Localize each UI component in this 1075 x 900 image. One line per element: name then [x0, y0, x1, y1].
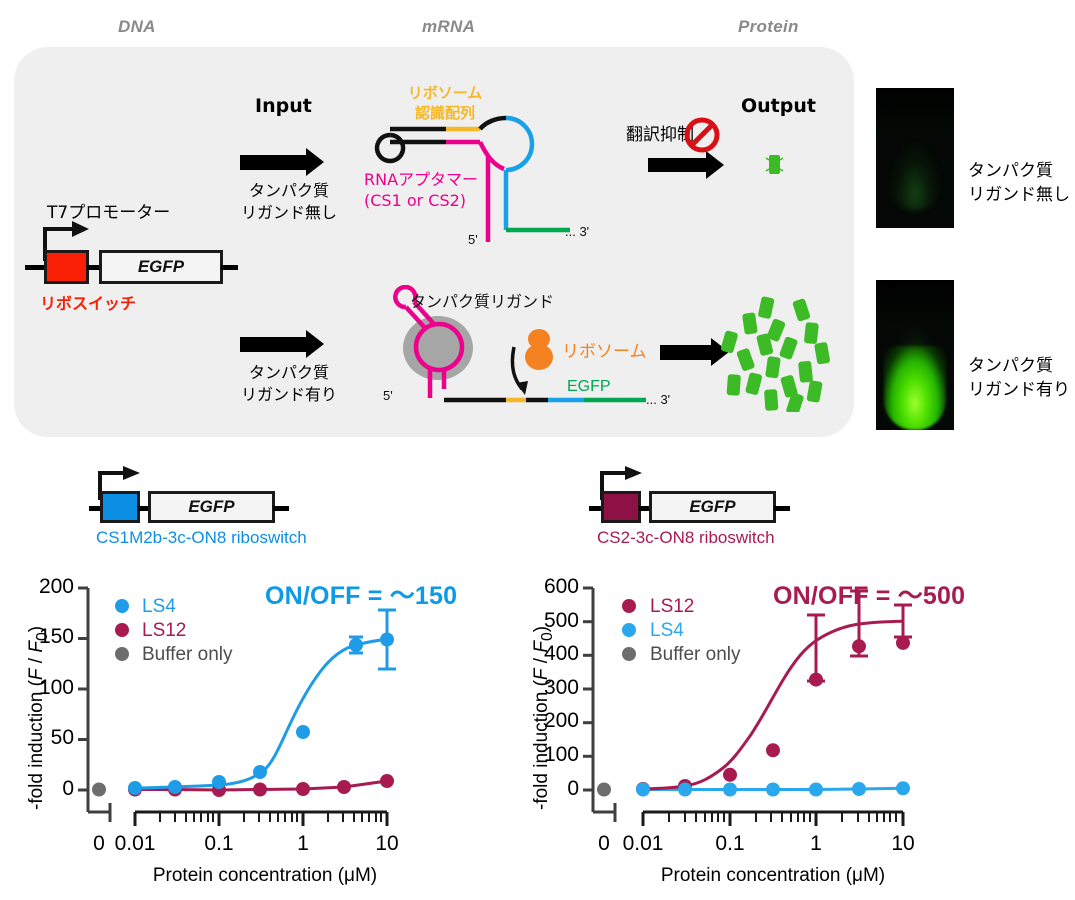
- chart-left: -fold induction (F / F0) ON/OFF = 〜150: [0, 560, 525, 890]
- left-riboswitch-box: [100, 491, 140, 523]
- right-egfp-label: EGFP: [689, 497, 735, 517]
- gfp-protein-cluster-icon: [714, 292, 834, 412]
- right-xtick-0.01: 0.01: [611, 832, 675, 856]
- right-ytick-400: 400: [521, 642, 579, 666]
- right-egfp-box: EGFP: [649, 491, 776, 523]
- right-ytick-0: 0: [521, 777, 579, 801]
- egfp-gene-label: EGFP: [138, 257, 184, 277]
- left-egfp-label: EGFP: [188, 497, 234, 517]
- input-label: Input: [255, 95, 312, 117]
- mrna-off-3prime-label: ... 3': [565, 224, 589, 239]
- right-ytick-300: 300: [521, 676, 579, 700]
- left-construct-backbone-r: [273, 506, 289, 511]
- off-condition-line1: タンパク質: [236, 180, 342, 202]
- left-x-axis-title: Protein concentration (μM): [100, 865, 430, 887]
- tube-photo-off: [876, 88, 954, 228]
- dna-backbone-right: [221, 265, 238, 270]
- tube-on-dark-cap: [876, 280, 954, 331]
- tube-off-caption-line2: リガンド無し: [968, 184, 1070, 208]
- mrna-off-5prime-label: 5': [468, 232, 478, 247]
- left-ytick-150: 150: [26, 625, 74, 649]
- on-input-arrow-icon: [240, 330, 335, 358]
- off-input-arrow-icon: [240, 148, 335, 176]
- tube-on-caption-line2: リガンド有り: [968, 379, 1070, 403]
- mrna-on-5prime-label: 5': [383, 388, 393, 403]
- left-egfp-box: EGFP: [148, 491, 275, 523]
- left-xtick-0.1: 0.1: [192, 832, 246, 856]
- column-label-dna: DNA: [118, 17, 156, 37]
- right-xtick-0.1: 0.1: [703, 832, 757, 856]
- riboswitch-box: [44, 250, 89, 284]
- left-legend-item-ls4: LS4: [142, 596, 176, 618]
- left-xtick-1: 1: [283, 832, 323, 856]
- off-condition-label: タンパク質 リガンド無し: [236, 180, 342, 223]
- right-ytick-500: 500: [521, 609, 579, 633]
- left-ytick-100: 100: [26, 676, 74, 700]
- right-x-axis-title: Protein concentration (μM): [608, 865, 938, 887]
- tube-off-caption: タンパク質 リガンド無し: [968, 160, 1070, 208]
- riboswitch-label: リボスイッチ: [40, 290, 136, 314]
- on-condition-label: タンパク質 リガンド有り: [236, 362, 342, 405]
- right-ytick-200: 200: [521, 709, 579, 733]
- rna-aptamer-line1: RNAアプタマー: [364, 170, 478, 191]
- left-ytick-0: 0: [26, 777, 74, 801]
- right-riboswitch-box: [601, 491, 641, 523]
- right-xtick-10: 10: [879, 832, 927, 856]
- right-xtick-1: 1: [796, 832, 836, 856]
- left-legend-item-ls12: LS12: [142, 620, 186, 642]
- rbs-label-line1: リボソーム: [380, 84, 510, 104]
- prohibition-icon: [684, 117, 720, 153]
- mrna-on-egfp-label: EGFP: [567, 378, 611, 396]
- on-condition-line2: リガンド有り: [236, 384, 342, 406]
- mrna-on-3prime-label: ... 3': [646, 392, 670, 407]
- left-legend-item-buffer: Buffer only: [142, 644, 232, 666]
- right-construct-backbone-r: [774, 506, 790, 511]
- gfp-protein-single-icon: [764, 152, 786, 178]
- egfp-gene-box: EGFP: [99, 250, 223, 284]
- tube-on-caption: タンパク質 リガンド有り: [968, 355, 1070, 403]
- left-xtick-0.01: 0.01: [103, 832, 167, 856]
- tube-off-dark-cap: [876, 88, 954, 136]
- right-ytick-100: 100: [521, 743, 579, 767]
- ribosome-icon: [521, 327, 557, 371]
- off-condition-line2: リガンド無し: [236, 202, 342, 224]
- off-output-arrow-icon: [648, 152, 743, 178]
- t7-promoter-label: T7プロモーター: [47, 198, 170, 223]
- tube-off-caption-line1: タンパク質: [968, 160, 1070, 184]
- chart-right: -fold induction (F / F0) ON/OFF = 〜500: [505, 560, 1075, 890]
- tube-on-glow: [884, 346, 946, 430]
- rna-aptamer-line2: (CS1 or CS2): [364, 191, 478, 212]
- left-xtick-10: 10: [363, 832, 411, 856]
- right-legend-item-ls4: LS4: [650, 620, 684, 642]
- rna-aptamer-label: RNAアプタマー (CS1 or CS2): [364, 170, 478, 212]
- tube-photo-on: [876, 280, 954, 430]
- right-ytick-600: 600: [521, 575, 579, 599]
- left-switch-name: CS1M2b-3c-ON8 riboswitch: [96, 528, 307, 548]
- tube-on-caption-line1: タンパク質: [968, 355, 1070, 379]
- column-label-mrna: mRNA: [422, 17, 475, 37]
- ribosome-label: リボソーム: [562, 337, 647, 362]
- left-ytick-200: 200: [26, 575, 74, 599]
- right-switch-name: CS2-3c-ON8 riboswitch: [597, 528, 775, 548]
- output-label: Output: [741, 95, 816, 117]
- tube-off-glow: [888, 140, 942, 210]
- on-condition-line1: タンパク質: [236, 362, 342, 384]
- protein-ligand-label: タンパク質リガンド: [410, 288, 554, 312]
- right-legend-item-ls12: LS12: [650, 596, 694, 618]
- right-legend-item-buffer: Buffer only: [650, 644, 740, 666]
- column-label-protein: Protein: [738, 17, 799, 37]
- left-ytick-50: 50: [26, 726, 74, 750]
